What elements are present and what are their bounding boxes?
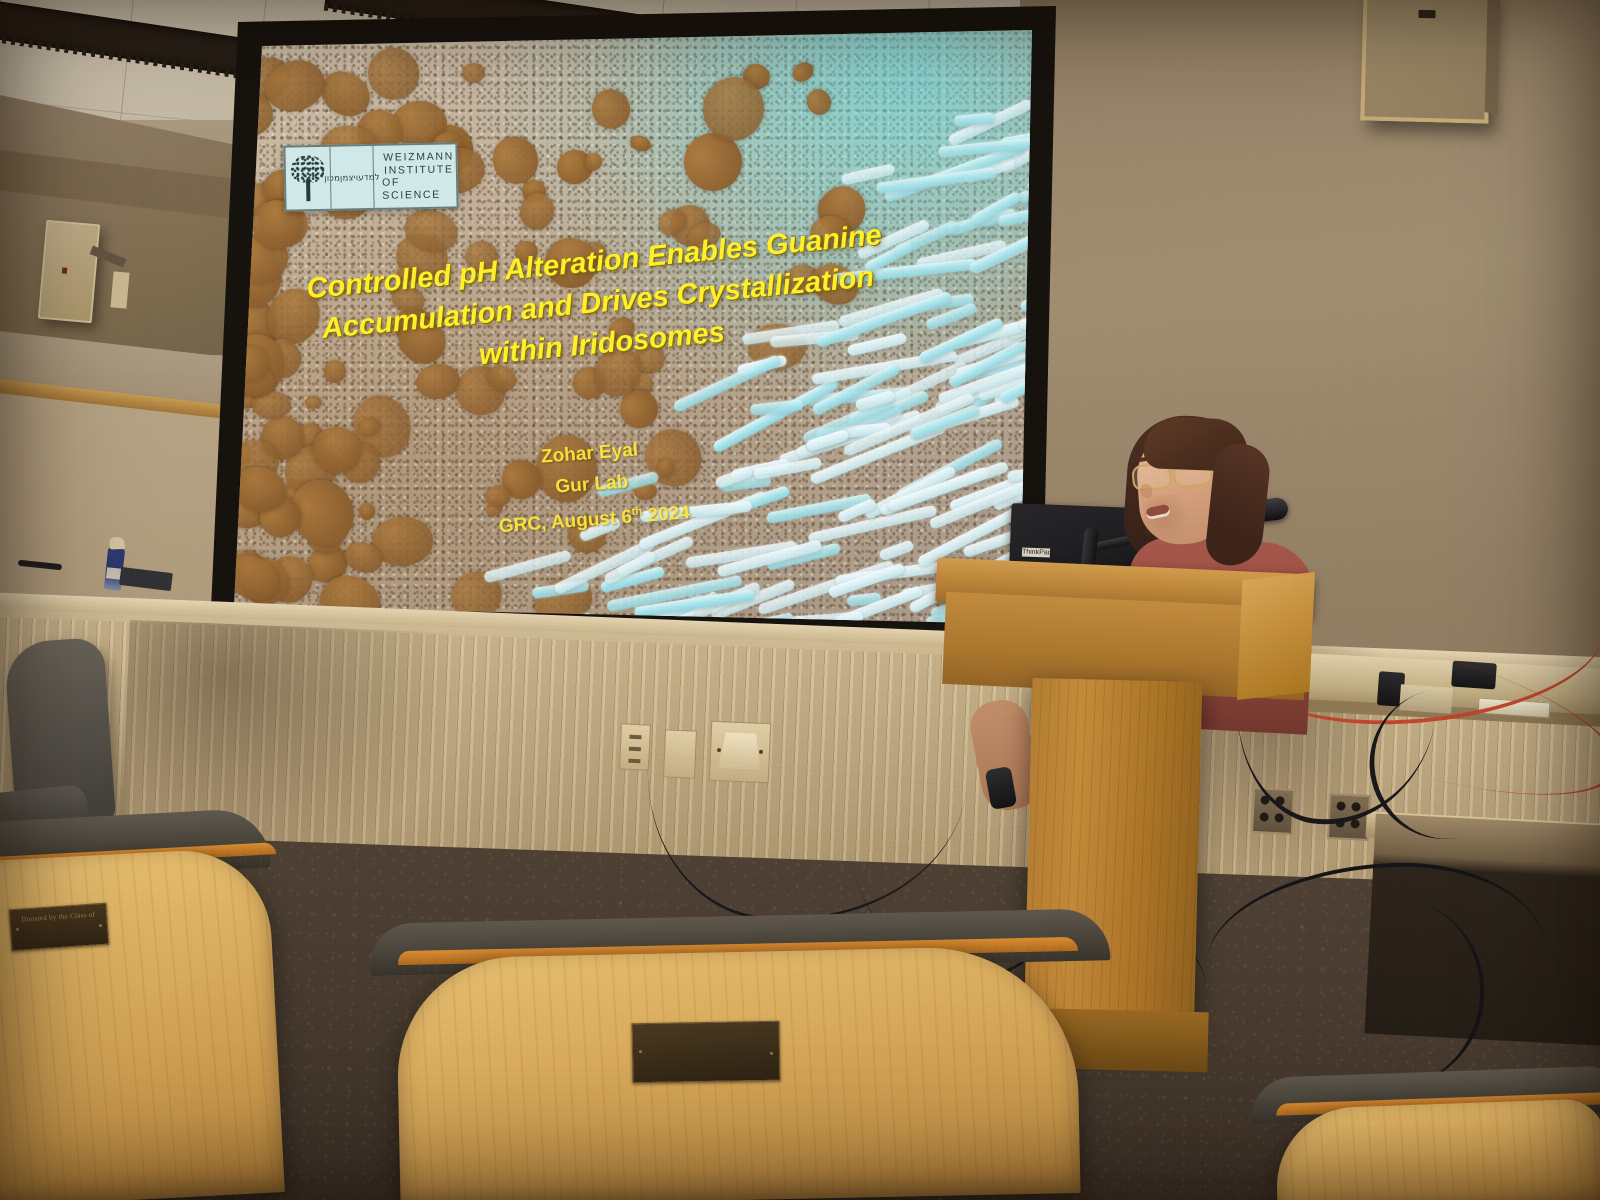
lecture-hall-photo: מכון ויצמן למדע WEIZMANN INSTITUTE OF SC…: [0, 0, 1600, 1200]
guanine-crystal-platelet: [483, 549, 572, 583]
wood-grain: [1274, 1098, 1600, 1200]
weizmann-english-text: WEIZMANN INSTITUTE OF SCIENCE: [373, 144, 456, 208]
nose: [1140, 484, 1152, 498]
guanine-crystal-platelet: [1050, 400, 1056, 424]
auditorium-seat-left: [0, 846, 285, 1200]
event-year: 2024: [642, 502, 691, 526]
wall-speaker-left: [38, 220, 100, 323]
outlet-slot: [628, 759, 640, 764]
guanine-crystal-platelet: [879, 539, 916, 561]
projection-screen: מכון ויצמן למדע WEIZMANN INSTITUTE OF SC…: [196, 6, 1056, 666]
jbl-badge-icon: [1418, 10, 1435, 18]
screw-icon: [759, 750, 763, 754]
weizmann-hebrew-text: מכון ויצמן למדע: [330, 146, 374, 209]
weizmann-tree-icon: [285, 147, 331, 210]
hebrew-line-2: ויצמן: [340, 174, 359, 183]
wall-speaker-right: [1360, 0, 1491, 124]
outlet-slot: [629, 735, 641, 740]
thinkpad-logo: ThinkPad: [1022, 548, 1050, 558]
outlet-slot: [629, 747, 641, 752]
seat-plaque: [631, 1021, 780, 1084]
wood-grain: [0, 846, 285, 1200]
seat-plaque: Donated by the Class of: [9, 903, 110, 952]
screw-icon: [99, 924, 102, 927]
screw-icon: [16, 928, 19, 931]
weizmann-institute-logo: מכון ויצמן למדע WEIZMANN INSTITUTE OF SC…: [283, 142, 458, 211]
podium-side-panel: [1237, 572, 1315, 700]
speaker-led-icon: [62, 267, 68, 273]
auditorium-seat-right: [1274, 1098, 1600, 1200]
wall-outlet: [619, 723, 651, 770]
event-prefix: GRC, August 6: [498, 507, 633, 538]
outlet-slot: [666, 730, 696, 731]
outlet-slot: [666, 730, 696, 731]
screw-icon: [770, 1052, 773, 1055]
seat-plaque-text: [633, 1022, 779, 1031]
screw-icon: [717, 748, 721, 752]
speaker-wall-plate: [110, 271, 129, 308]
logo-line-of-science: OF SCIENCE: [382, 175, 456, 201]
screw-icon: [639, 1050, 642, 1053]
projected-slide: מכון ויצמן למדע WEIZMANN INSTITUTE OF SC…: [196, 6, 1056, 666]
